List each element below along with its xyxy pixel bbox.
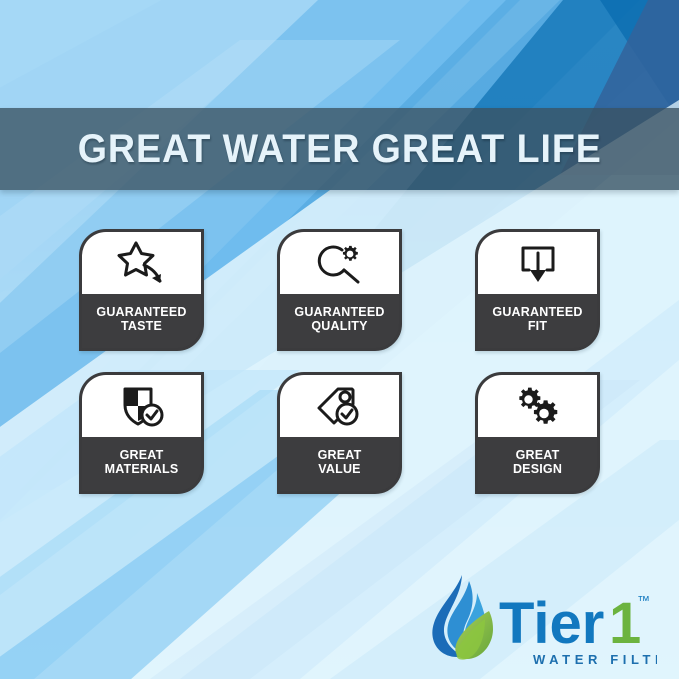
- badge-great-design[interactable]: GREAT DESIGN: [475, 372, 600, 494]
- feature-badge-grid: GUARANTEED TASTE: [0, 229, 679, 515]
- badge-guaranteed-quality[interactable]: GUARANTEED QUALITY: [277, 229, 402, 351]
- badge-label: GREAT MATERIALS: [82, 437, 201, 491]
- badge-label-line2: FIT: [528, 319, 547, 334]
- price-tag-check-icon: [280, 375, 399, 437]
- tier1-logo: Tier 1 ™ WATER FILTERS: [417, 571, 657, 671]
- badge-guaranteed-fit[interactable]: GUARANTEED FIT: [475, 229, 600, 351]
- badge-great-value[interactable]: GREAT VALUE: [277, 372, 402, 494]
- badge-label: GUARANTEED TASTE: [82, 294, 201, 348]
- badge-label-line1: GUARANTEED: [294, 305, 384, 320]
- badge-label: GUARANTEED QUALITY: [280, 294, 399, 348]
- badge-label-line1: GREAT: [318, 448, 362, 463]
- promo-poster: GREAT WATER GREAT LIFE GUARANTEED TAST: [0, 0, 679, 679]
- shooting-star-icon: [82, 232, 201, 294]
- magnifier-gear-icon: [280, 232, 399, 294]
- logo-tagline: WATER FILTERS: [533, 652, 657, 667]
- badge-label-line2: DESIGN: [513, 462, 562, 477]
- headline-banner: GREAT WATER GREAT LIFE: [0, 108, 679, 190]
- logo-brand-name: Tier: [499, 591, 604, 656]
- badge-label-line2: TASTE: [121, 319, 162, 334]
- badge-label-line2: VALUE: [318, 462, 360, 477]
- badge-label: GUARANTEED FIT: [478, 294, 597, 348]
- badge-row-1: GUARANTEED TASTE: [0, 229, 679, 351]
- badge-guaranteed-taste[interactable]: GUARANTEED TASTE: [79, 229, 204, 351]
- badge-label: GREAT VALUE: [280, 437, 399, 491]
- two-gears-icon: [478, 375, 597, 437]
- badge-label: GREAT DESIGN: [478, 437, 597, 491]
- logo-trademark: ™: [637, 593, 650, 608]
- water-drop-leaf-mark: [432, 575, 493, 660]
- badge-row-2: GREAT MATERIALS GREAT: [0, 372, 679, 494]
- badge-label-line1: GREAT: [516, 448, 560, 463]
- badge-label-line1: GREAT: [120, 448, 164, 463]
- badge-label-line2: MATERIALS: [105, 462, 179, 477]
- box-down-arrow-icon: [478, 232, 597, 294]
- shield-check-icon: [82, 375, 201, 437]
- banner-title: GREAT WATER GREAT LIFE: [77, 127, 601, 172]
- badge-great-materials[interactable]: GREAT MATERIALS: [79, 372, 204, 494]
- badge-label-line1: GUARANTEED: [492, 305, 582, 320]
- badge-label-line2: QUALITY: [311, 319, 367, 334]
- badge-label-line1: GUARANTEED: [96, 305, 186, 320]
